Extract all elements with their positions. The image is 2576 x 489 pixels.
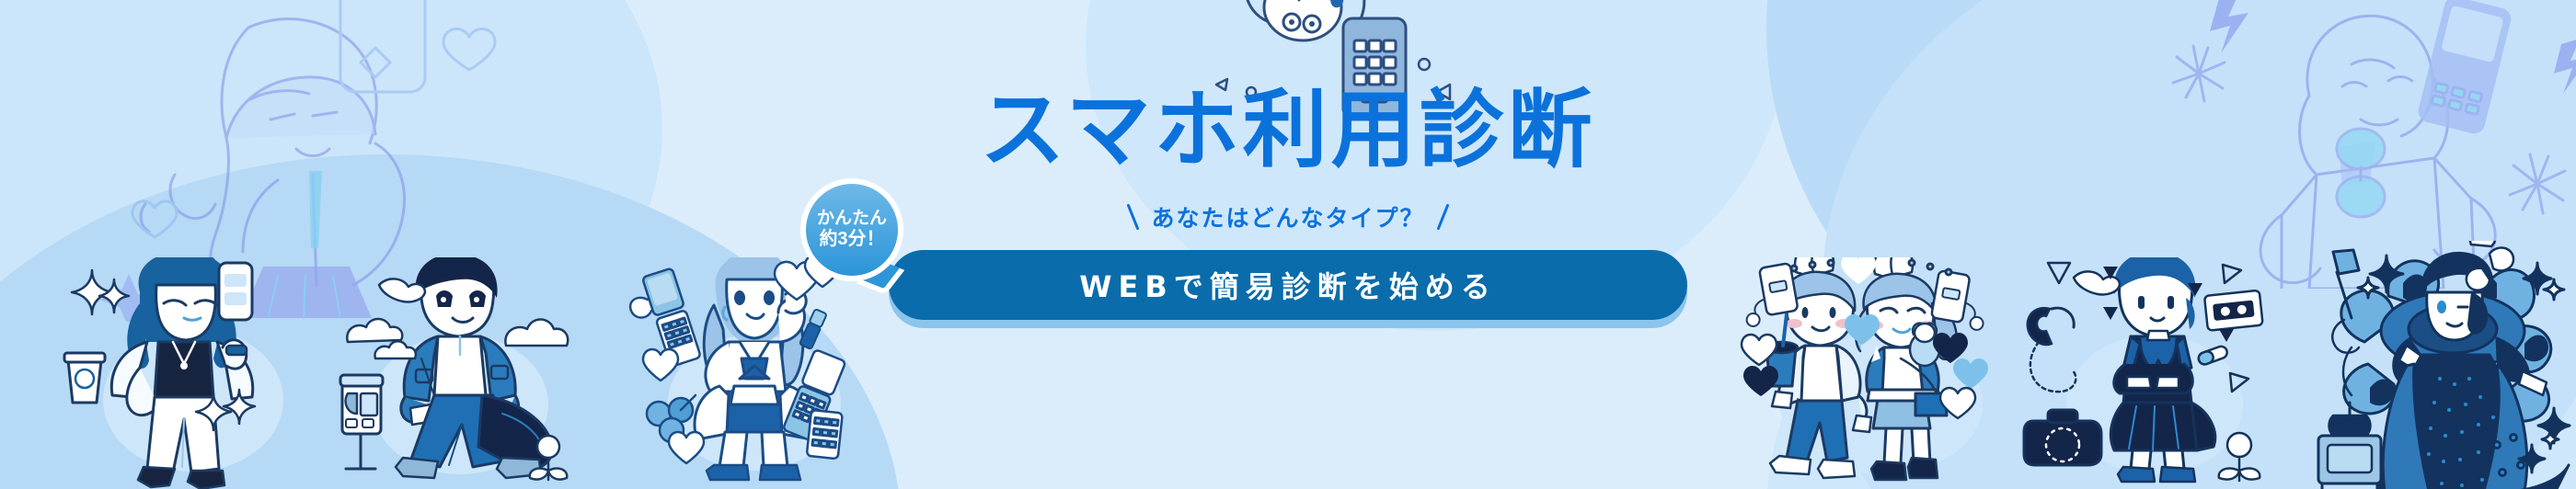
character-woman-gown	[2300, 241, 2576, 489]
subtitle-slash-right	[1436, 204, 1449, 231]
duration-badge: かんたん 約3分！	[800, 178, 903, 281]
badge-line-1: かんたん	[817, 209, 887, 229]
character-girl-navy-uniform	[2015, 257, 2291, 489]
cta-wrapper: かんたん 約3分！ WEBで簡易診断を始める	[889, 250, 1687, 320]
character-man-denim	[322, 257, 598, 489]
character-couple-bunny-ears	[1730, 257, 2024, 489]
subtitle-text: あなたはどんなタイプ？	[1151, 200, 1424, 233]
start-diagnosis-button[interactable]: WEBで簡易診断を始める	[889, 250, 1687, 320]
badge-circle: かんたん 約3分！	[800, 178, 903, 281]
page-title: スマホ利用診断	[980, 88, 1595, 173]
subtitle-slash-left	[1127, 204, 1140, 231]
character-woman-white-suit	[55, 257, 322, 489]
subtitle: あなたはどんなタイプ？	[1132, 200, 1443, 233]
badge-line-2: 約3分！	[819, 229, 884, 251]
banner-content: スマホ利用診断 あなたはどんなタイプ？ かんたん 約3分！ WEBで簡易診断を始…	[837, 0, 1739, 489]
smartphone-usage-diagnosis-banner: スマホ利用診断 あなたはどんなタイプ？ かんたん 約3分！ WEBで簡易診断を始…	[0, 0, 2576, 489]
